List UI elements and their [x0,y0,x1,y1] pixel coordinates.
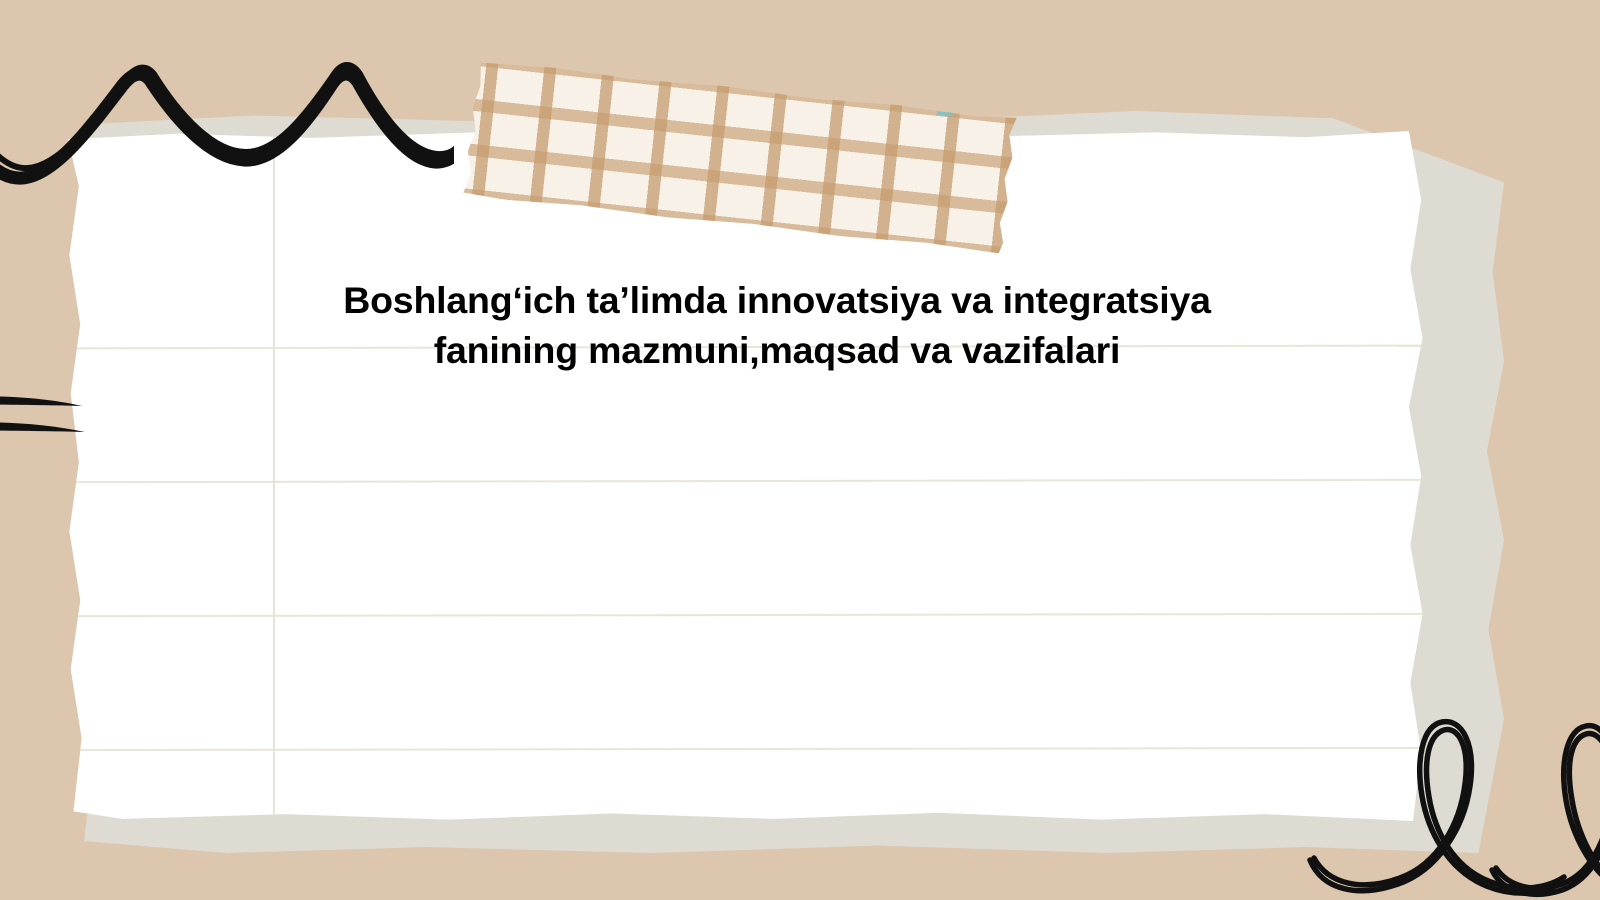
wave-scallop-doodle [0,28,454,218]
ruled-line [68,479,1428,483]
notebook-paper [68,131,1428,821]
title-line-2: fanining mazmuni,maqsad va vazifalari [272,325,1282,375]
slide-title: Boshlang‘ich ta’limda innovatsiya va int… [272,275,1282,375]
slide-canvas: Boshlang‘ich ta’limda innovatsiya va int… [0,0,1600,900]
cursive-loops-doodle [1296,700,1600,900]
double-dash-doodle [0,375,110,450]
ruled-line [68,613,1428,617]
margin-line [273,131,275,821]
title-line-1: Boshlang‘ich ta’limda innovatsiya va int… [272,275,1282,325]
ruled-line [68,747,1428,751]
